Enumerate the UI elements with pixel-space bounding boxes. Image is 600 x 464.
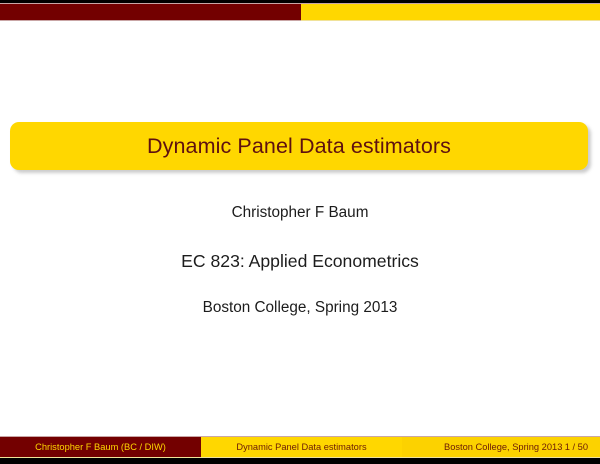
page-title: Dynamic Panel Data estimators [147, 134, 451, 159]
header-band-maroon [0, 4, 301, 20]
footer-black-strip [0, 458, 600, 464]
header-hairline-bottom-left [0, 20, 301, 21]
footer-venue-segment: Boston College, Spring 2013 1 / 50 [402, 437, 600, 457]
slide-page: { "theme": { "maroon": "#730000", "yello… [0, 0, 600, 464]
author-name: Christopher F Baum [0, 204, 600, 222]
footer-title: Dynamic Panel Data estimators [201, 437, 402, 457]
footer-page-number: 1 / 50 [565, 437, 588, 457]
slide-footer-bar: Christopher F Baum (BC / DIW) Dynamic Pa… [0, 436, 600, 464]
slide-header-bar [0, 0, 600, 24]
header-color-band [0, 4, 600, 20]
footer-venue-label: Boston College, Spring 2013 [444, 442, 562, 452]
course-title: EC 823: Applied Econometrics [0, 251, 600, 272]
title-banner: Dynamic Panel Data estimators [10, 122, 588, 170]
institution-and-term: Boston College, Spring 2013 [0, 299, 600, 317]
header-band-yellow [301, 4, 600, 20]
header-hairline-bottom-right [301, 20, 600, 21]
footer-segments: Christopher F Baum (BC / DIW) Dynamic Pa… [0, 437, 600, 457]
footer-author: Christopher F Baum (BC / DIW) [0, 437, 201, 457]
